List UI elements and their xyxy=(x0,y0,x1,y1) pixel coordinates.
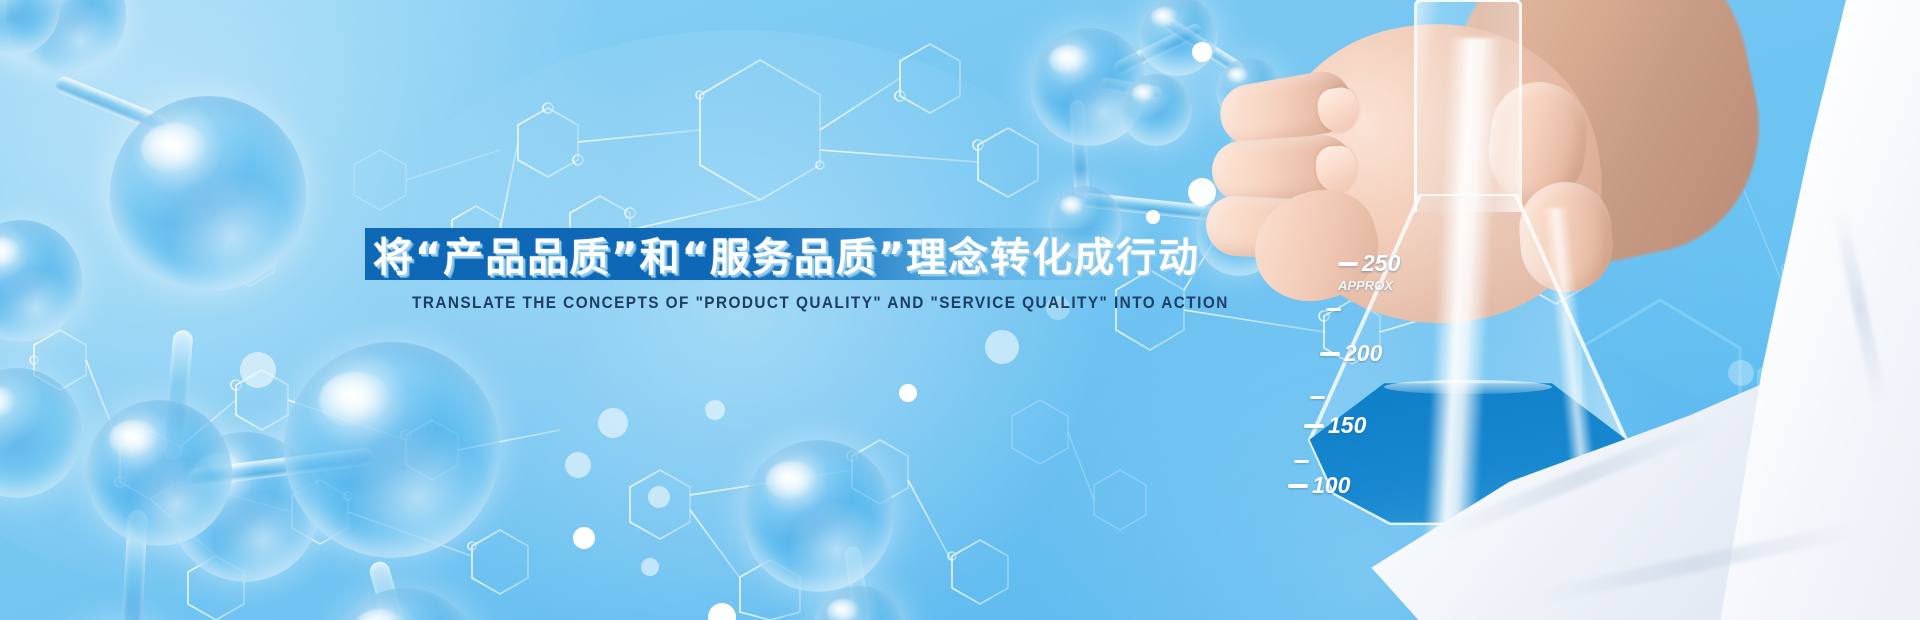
bokeh-dot xyxy=(641,558,659,576)
graduation-label-250: 250 xyxy=(1362,250,1400,277)
bokeh-dot xyxy=(985,330,1019,364)
graduation-label-150: 150 xyxy=(1328,412,1366,439)
bokeh-dot xyxy=(1146,210,1160,224)
graduation-label-100: 100 xyxy=(1312,472,1350,499)
page-title: 将“产品品质”和“服务品质”理念转化成行动 xyxy=(373,224,1200,284)
bokeh-dot xyxy=(899,384,917,402)
graduation-label-approx: APPROX xyxy=(1338,278,1393,293)
hero-banner: 250 APPROX 200 150 100 将“产品品质”和“服务品质”理念转… xyxy=(0,0,1920,620)
graduation-label-200: 200 xyxy=(1344,340,1382,367)
bokeh-dot xyxy=(240,352,276,388)
bokeh-dot xyxy=(573,527,595,549)
bokeh-dot xyxy=(565,452,591,478)
bokeh-dot xyxy=(705,400,725,420)
bokeh-dot xyxy=(598,408,628,438)
page-subtitle: TRANSLATE THE CONCEPTS OF "PRODUCT QUALI… xyxy=(412,294,1229,313)
bokeh-dot xyxy=(648,486,670,508)
